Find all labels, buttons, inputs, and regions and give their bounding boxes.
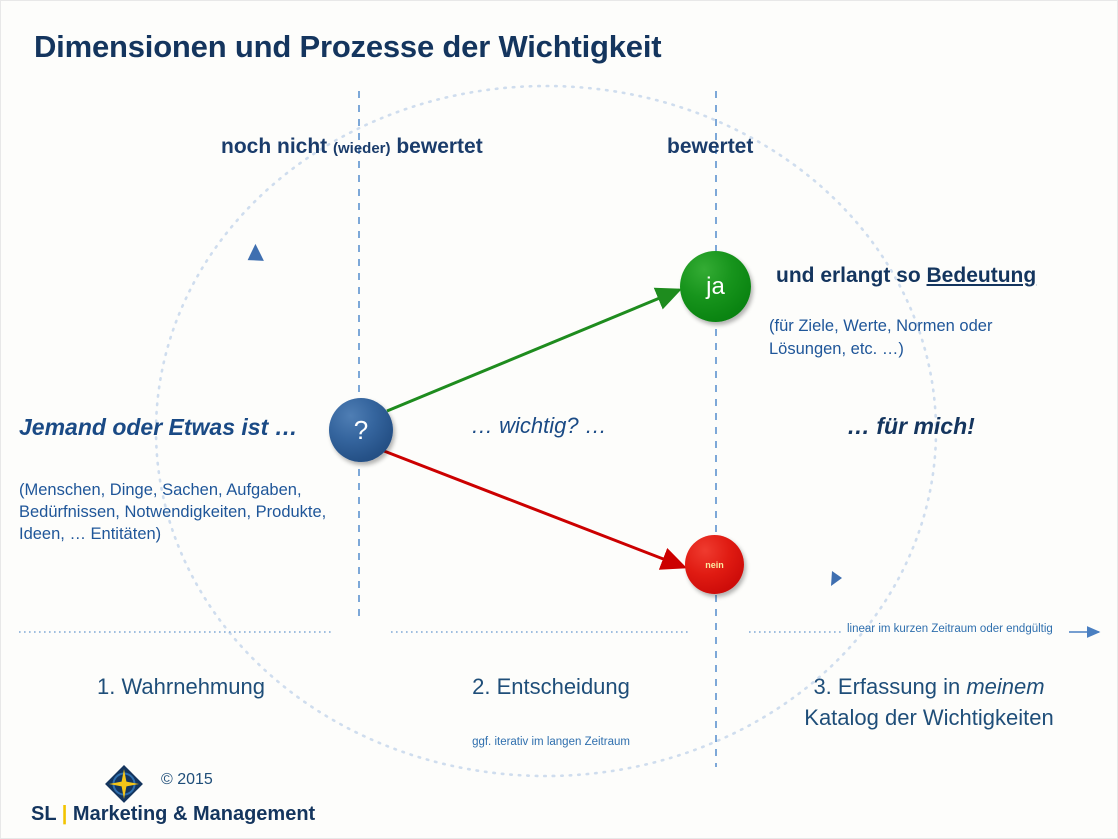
phase-3-second-line: Katalog der Wichtigkeiten [804,705,1053,730]
phase-label-1: 1. Wahrnehmung [46,674,316,700]
page-title: Dimensionen und Prozesse der Wichtigkeit [34,29,661,65]
header-left-part-b: bewertet [391,135,483,158]
column-header-evaluated: bewertet [667,135,753,159]
node-question-label: ? [354,415,368,446]
slide-canvas: Dimensionen und Prozesse der Wichtigkeit… [0,0,1118,839]
column-header-not-yet-evaluated: noch nicht (wieder) bewertet [221,135,483,159]
node-yes[interactable]: ja [680,251,751,322]
arrow-to-no [384,451,684,567]
phase-3-emphasis: meinem [966,674,1044,699]
logo-wordmark-b: Marketing & Management [67,803,315,825]
right-heading: und erlangt so Bedeutung [776,264,1036,288]
star-diamond-logo-icon [103,763,145,805]
node-question[interactable]: ? [329,398,393,462]
right-subtext: (für Ziele, Werte, Normen oder Lösungen,… [769,315,1049,361]
left-subtext: (Menschen, Dinge, Sachen, Aufgaben, Bedü… [19,479,349,545]
phase-3-prefix: 3. Erfassung in [813,674,966,699]
header-left-part-a: noch nicht [221,135,333,158]
phase-label-2: 2. Entscheidung [421,674,681,700]
node-no[interactable]: nein [685,535,744,594]
right-for-me-label: … für mich! [847,413,975,440]
left-heading: Jemand oder Etwas ist … [19,414,298,441]
phase-label-3: 3. Erfassung in meinem Katalog der Wicht… [759,671,1099,733]
note-iterative-cycle: ggf. iterativ im langen Zeitraum [451,736,651,748]
logo-wordmark-a: SL [31,803,62,825]
header-left-qualifier: (wieder) [333,140,391,157]
node-yes-label: ja [706,273,725,301]
cycle-arrowhead-left [246,243,264,263]
node-no-label: nein [705,560,724,570]
arrow-to-yes [387,290,679,411]
center-question-label: … wichtig? … [471,413,607,439]
logo-wordmark: SL | Marketing & Management [31,803,315,826]
right-heading-underlined: Bedeutung [927,264,1037,287]
right-heading-prefix: und erlangt so [776,264,927,287]
note-linear-timeframe: linear im kurzen Zeitraum oder endgültig [847,623,1053,635]
cycle-arrowhead-right [831,571,842,586]
logo-copyright: © 2015 [161,771,213,789]
